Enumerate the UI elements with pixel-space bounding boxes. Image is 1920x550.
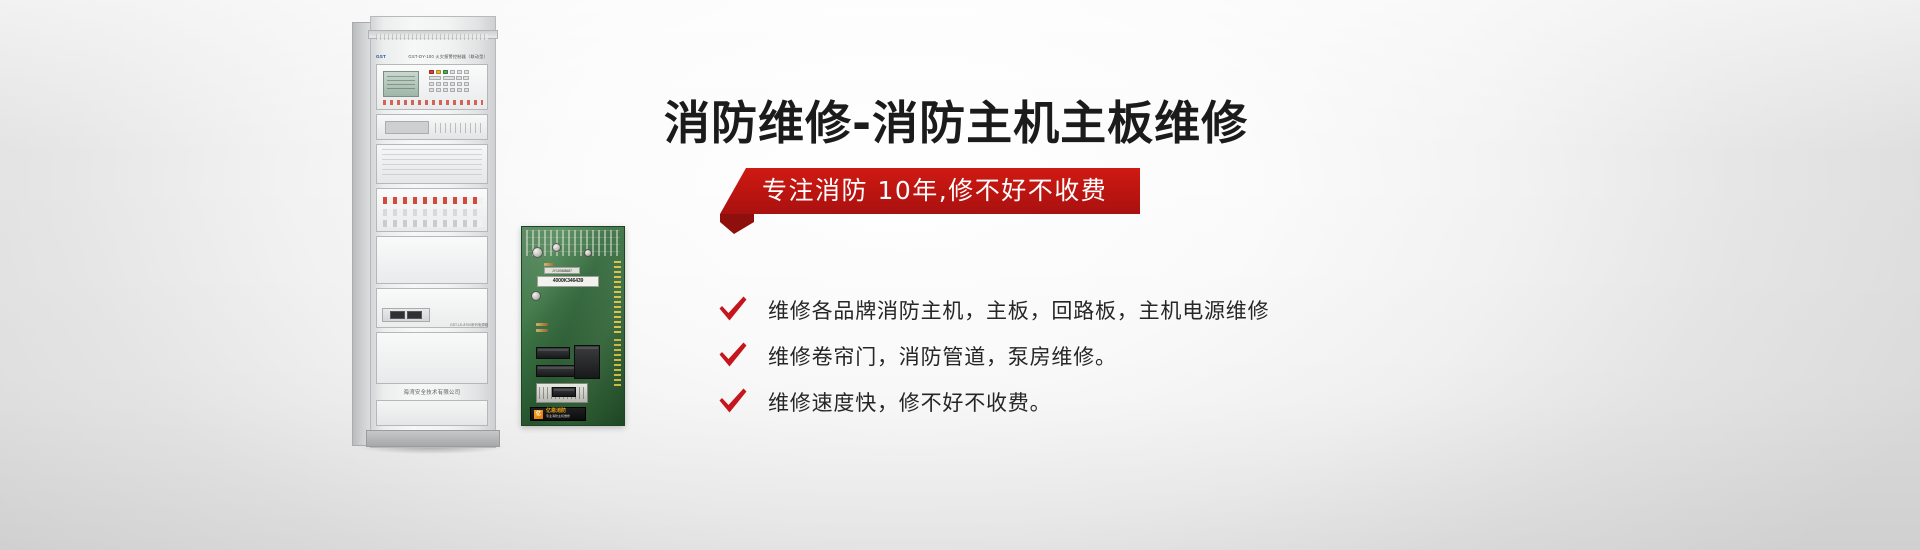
promo-banner: GST GST-DY-100 火灾报警控制器（联动型） [0,0,1920,550]
pcb-capacitor [532,247,543,258]
list-item-label: 维修各品牌消防主机，主板，回路板，主机电源维修 [768,296,1269,326]
pcb-resistor [544,263,554,266]
pcb-capacitor [531,291,541,301]
pcb-capacitor [584,249,592,257]
list-item-label: 维修速度快，修不好不收费。 [768,388,1051,418]
cabinet-meter-display [407,311,422,319]
circuit-board-image: JY100M8687 4000K346439 亿 亿恩消防 专业消防主机维修 [521,226,625,426]
pcb-substrate: JY100M8687 4000K346439 亿 亿恩消防 专业消防主机维修 [521,226,625,426]
keypad-key [464,82,469,86]
pcb-pin-header [614,339,621,389]
list-item: 维修各品牌消防主机，主板，回路板，主机电源维修 [718,288,1538,334]
pcb-resistor [536,329,548,332]
cabinet-side-panel [352,22,372,446]
cabinet-blank-panel-lower [376,332,488,384]
cabinet-vent-grille [376,34,488,40]
keypad-key [429,82,434,86]
pcb-ic-chip [574,345,600,379]
ribbon-label: 专注消防 10年,修不好不收费 [762,177,1107,205]
keypad-key-wide [429,76,441,80]
list-item: 维修速度快，修不好不收费。 [718,380,1538,426]
pcb-capacitor [552,243,561,252]
cabinet-brand-logo: GST [376,54,386,59]
check-icon [718,388,748,414]
cabinet-lcd-display [383,71,419,97]
cabinet-voltage-meters [382,308,430,322]
keypad-key [464,88,469,92]
pcb-watermark-logo: 亿 亿恩消防 专业消防主机维修 [530,407,586,421]
cabinet-panel-dots [435,123,481,133]
logo-text: 亿恩消防 专业消防主机维修 [546,409,570,419]
cabinet-power-label: GST-LD-8700系列电源箱 [414,322,488,327]
list-item-label: 维修卷帘门，消防管道，泵房维修。 [768,342,1117,372]
keypad-key [456,76,461,80]
cabinet-company-name: 海湾安全技术有限公司 [376,388,488,396]
keypad-key-wide [443,76,455,80]
keypad-row [429,76,483,80]
keypad-row [429,88,483,92]
cabinet-module-rows [382,149,482,179]
keypad-key-alarm [429,70,434,74]
cabinet-meter-display [390,311,405,319]
pcb-part-number-label: 4000K346439 [537,276,599,287]
pcb-ic-chip [536,347,570,359]
pcb-resistor [536,323,548,326]
keypad-key [450,70,455,74]
cabinet-bottom-panel [376,400,488,426]
keypad-key [457,88,462,92]
cabinet-lamp-row-two [383,209,483,216]
logo-mark-icon: 亿 [534,410,543,419]
cabinet-loop-module-panel [376,144,488,184]
cabinet-zone-indicator-panel [376,188,488,232]
pcb-pin-header [614,261,621,333]
cabinet-brand-strip: GST GST-DY-100 火灾报警控制器（联动型） [376,54,488,62]
keypad-key-fault [436,70,441,74]
keypad-row [429,70,483,74]
logo-tagline: 专业消防主机维修 [546,414,570,419]
cabinet-base-plinth [366,430,500,447]
cabinet-main-control-panel [376,64,488,110]
keypad-key [457,70,462,74]
cabinet-printer-slot [385,121,429,134]
keypad-key [450,82,455,86]
keypad-key [464,70,469,74]
keypad-key [443,88,448,92]
keypad-key [450,88,455,92]
keypad-key [436,88,441,92]
keypad-key-normal [443,70,448,74]
pcb-ic-chip [552,387,576,397]
ribbon-fold-notch [720,214,754,234]
keypad-key [457,82,462,86]
check-icon [718,342,748,368]
keypad-key [443,82,448,86]
list-item: 维修卷帘门，消防管道，泵房维修。 [718,334,1538,380]
feature-list: 维修各品牌消防主机，主板，回路板，主机电源维修 维修卷帘门，消防管道，泵房维修。… [718,288,1538,426]
cabinet-printer-panel [376,114,488,140]
keypad-key [429,88,434,92]
cabinet-lamp-row-alarm [383,197,483,204]
status-badge: 专注消防 10年,修不好不收费 [720,168,1140,214]
cabinet-lamp-row-three [383,220,483,227]
fire-alarm-control-cabinet-image: GST GST-DY-100 火灾报警控制器（联动型） [352,16,504,454]
keypad-key [463,76,468,80]
page-title: 消防维修-消防主机主板维修 [664,96,1248,150]
cabinet-led-indicator-strip [383,100,483,105]
pcb-secondary-label: JY100M8687 [544,267,580,274]
check-icon [718,296,748,322]
cabinet-blank-panel-upper [376,236,488,284]
keypad-row [429,82,483,86]
keypad-key [436,82,441,86]
cabinet-model-label: GST-DY-100 火灾报警控制器（联动型） [408,54,488,60]
